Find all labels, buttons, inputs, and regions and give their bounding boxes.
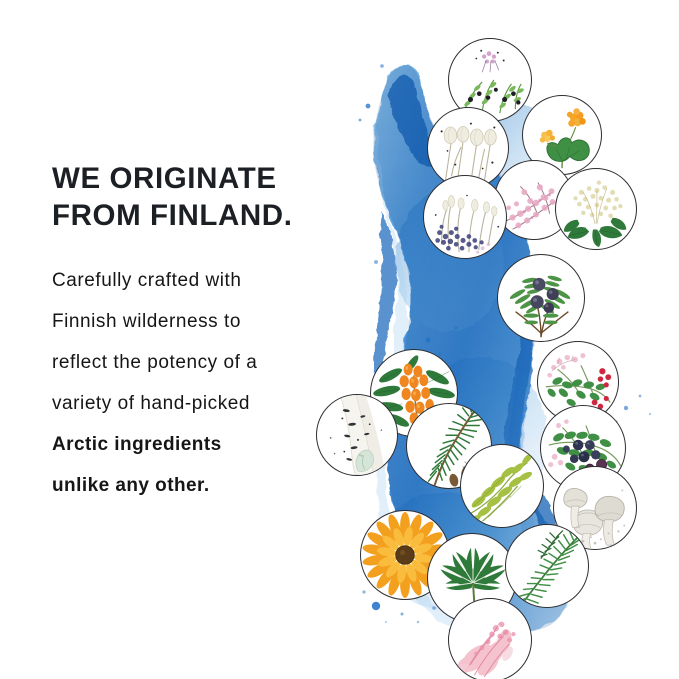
pink-fireweed-icon	[449, 599, 531, 679]
paragraph-line-6: unlike any other.	[52, 465, 362, 506]
paragraph-line-3: reflect the potency of a	[52, 342, 362, 383]
paragraph-line-2: Finnish wilderness to	[52, 301, 362, 342]
copy-block: WE ORIGINATE FROM FINLAND. Carefully cra…	[52, 160, 362, 506]
body-paragraph: Carefully crafted with Finnish wildernes…	[52, 260, 362, 506]
rowan-leaves-icon	[461, 445, 543, 527]
headline-line-2: FROM FINLAND.	[52, 197, 362, 234]
bilberry-sprig-icon	[424, 176, 506, 258]
medallion-birch-bark	[316, 394, 398, 476]
medallion-juniper-berries	[497, 254, 585, 342]
medallion-spruce-sprig	[505, 524, 589, 608]
meadowsweet-icon	[556, 169, 636, 249]
brand-graphic: WE ORIGINATE FROM FINLAND. Carefully cra…	[0, 0, 679, 679]
medallion-bilberry-sprig	[423, 175, 507, 259]
medallion-meadowsweet	[555, 168, 637, 250]
page-title: WE ORIGINATE FROM FINLAND.	[52, 160, 362, 234]
medallion-rowan-leaves	[460, 444, 544, 528]
paragraph-line-4: variety of hand-picked	[52, 383, 362, 424]
medallion-pink-fireweed	[448, 598, 532, 679]
headline-line-1: WE ORIGINATE	[52, 160, 362, 197]
birch-bark-icon	[317, 395, 397, 475]
spruce-sprig-icon	[506, 525, 588, 607]
finland-map-illustration	[330, 10, 679, 670]
paragraph-line-1: Carefully crafted with	[52, 260, 362, 301]
juniper-berries-icon	[498, 255, 584, 341]
